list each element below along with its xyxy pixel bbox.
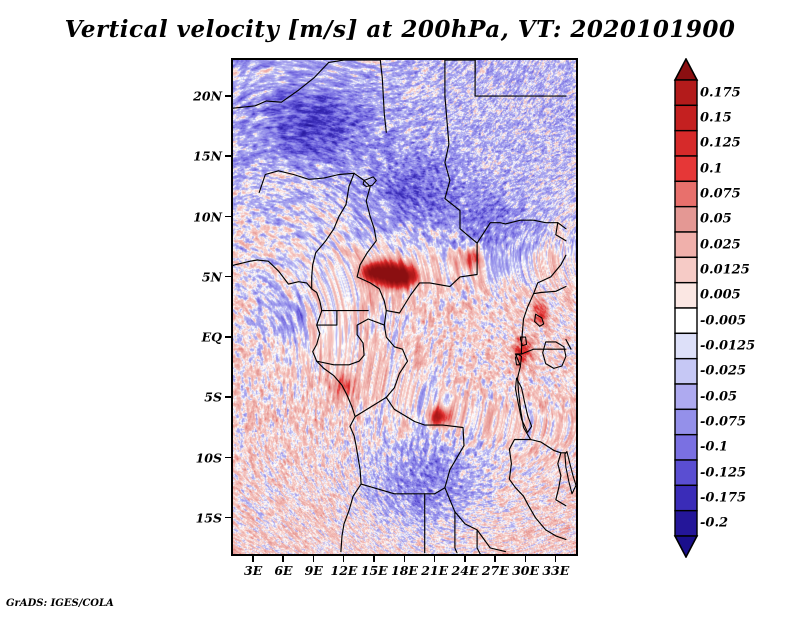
x-axis-tick-label: 21E xyxy=(421,563,448,578)
colorbar-tick-label: 0.075 xyxy=(700,187,741,202)
colorbar-tick-label: 0.125 xyxy=(700,136,741,151)
colorbar-tick-label: -0.025 xyxy=(700,364,746,379)
colorbar-tick-label: -0.005 xyxy=(700,313,746,328)
x-axis-tick xyxy=(373,556,375,562)
colorbar-tick-label: 0.005 xyxy=(700,288,741,303)
y-axis-tick xyxy=(225,457,231,459)
y-axis-tick-label: 20N xyxy=(193,89,222,104)
x-axis-tick xyxy=(464,556,466,562)
y-axis-tick-label: 5N xyxy=(202,269,222,284)
y-axis-tick-label: EQ xyxy=(202,330,222,345)
y-axis-tick xyxy=(225,216,231,218)
x-axis-tick xyxy=(313,556,315,562)
colorbar-swatches xyxy=(672,58,702,558)
x-axis-tick xyxy=(494,556,496,562)
y-axis-tick xyxy=(225,517,231,519)
y-axis-tick-label: 15S xyxy=(196,510,222,525)
x-axis-tick-label: 9E xyxy=(305,563,323,578)
colorbar-tick-label: 0.15 xyxy=(700,111,732,126)
colorbar-tick-label: -0.0125 xyxy=(700,339,755,354)
x-axis-tick-label: 12E xyxy=(331,563,358,578)
colorbar-tick-label: 0.1 xyxy=(700,161,723,176)
colorbar-tick-label: -0.05 xyxy=(700,389,737,404)
x-axis-tick-label: 6E xyxy=(274,563,292,578)
y-axis-tick-label: 10N xyxy=(193,209,222,224)
y-axis-tick xyxy=(225,336,231,338)
y-axis-tick xyxy=(225,95,231,97)
x-axis-tick xyxy=(525,556,527,562)
colorbar-tick-label: -0.125 xyxy=(700,465,746,480)
x-axis-tick-label: 24E xyxy=(452,563,479,578)
page-title: Vertical velocity [m/s] at 200hPa, VT: 2… xyxy=(0,16,800,43)
y-axis-tick-label: 5S xyxy=(204,390,222,405)
x-axis-tick xyxy=(252,556,254,562)
x-axis-tick-label: 3E xyxy=(244,563,262,578)
y-axis-tick xyxy=(225,276,231,278)
vertical-velocity-heatmap xyxy=(233,60,576,554)
x-axis-tick xyxy=(282,556,284,562)
y-axis-tick xyxy=(225,155,231,157)
colorbar-tick-label: -0.175 xyxy=(700,491,746,506)
y-axis-tick-label: 10S xyxy=(196,450,222,465)
colorbar-tick-label: 0.05 xyxy=(700,212,732,227)
x-axis-tick xyxy=(555,556,557,562)
x-axis-tick-label: 27E xyxy=(482,563,509,578)
y-axis-tick xyxy=(225,396,231,398)
x-axis-tick-label: 18E xyxy=(391,563,418,578)
colorbar-tick-label: 0.175 xyxy=(700,85,741,100)
x-axis-tick-label: 30E xyxy=(512,563,539,578)
colorbar-tick-label: 0.0125 xyxy=(700,263,750,278)
x-axis-tick xyxy=(434,556,436,562)
colorbar-tick-label: -0.075 xyxy=(700,415,746,430)
x-axis-tick xyxy=(404,556,406,562)
colorbar-tick-label: -0.1 xyxy=(700,440,728,455)
colorbar-tick-label: -0.2 xyxy=(700,516,728,531)
colorbar-tick-label: 0.025 xyxy=(700,237,741,252)
x-axis-tick-label: 15E xyxy=(361,563,388,578)
y-axis-tick-label: 15N xyxy=(193,149,222,164)
x-axis-tick xyxy=(343,556,345,562)
map-plot-panel xyxy=(231,58,578,556)
footer-credit: GrADS: IGES/COLA xyxy=(6,598,114,609)
x-axis-tick-label: 33E xyxy=(542,563,569,578)
colorbar: 0.1750.150.1250.10.0750.050.0250.01250.0… xyxy=(672,58,800,558)
